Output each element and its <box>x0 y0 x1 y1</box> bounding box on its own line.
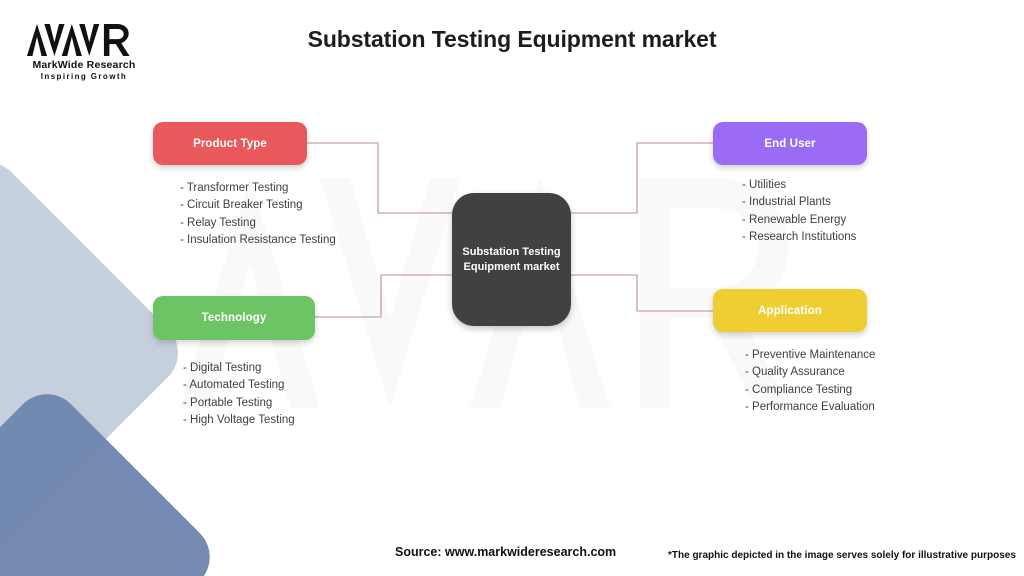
logo-company-name: MarkWide Research <box>20 59 148 71</box>
branch-technology-header[interactable]: Technology <box>153 296 315 340</box>
branch-product-type-header[interactable]: Product Type <box>153 122 307 165</box>
page-title: Substation Testing Equipment market <box>0 26 1024 53</box>
infographic-canvas: MarkWide Research Inspiring Growth Subst… <box>0 0 1024 576</box>
branch-application-header[interactable]: Application <box>713 289 867 332</box>
branch-product-type-title: Product Type <box>193 138 267 150</box>
branch-end-user: End User - Utilities - Industrial Plants… <box>713 122 867 247</box>
list-item: - Utilities <box>742 177 867 194</box>
list-item: - High Voltage Testing <box>183 412 315 429</box>
list-item: - Performance Evaluation <box>745 399 875 416</box>
branch-application-title: Application <box>758 305 822 317</box>
branch-end-user-title: End User <box>764 138 815 150</box>
branch-technology-title: Technology <box>202 312 267 324</box>
list-item: - Portable Testing <box>183 395 315 412</box>
branch-technology: Technology - Digital Testing - Automated… <box>153 296 315 430</box>
list-item: - Industrial Plants <box>742 194 867 211</box>
footer-source[interactable]: Source: www.markwideresearch.com <box>395 545 616 559</box>
branch-application-list: - Preventive Maintenance - Quality Assur… <box>713 347 875 417</box>
branch-end-user-list: - Utilities - Industrial Plants - Renewa… <box>713 177 867 247</box>
list-item: - Compliance Testing <box>745 382 875 399</box>
list-item: - Quality Assurance <box>745 364 875 381</box>
list-item: - Circuit Breaker Testing <box>180 197 336 214</box>
list-item: - Renewable Energy <box>742 212 867 229</box>
logo-tagline: Inspiring Growth <box>20 72 148 81</box>
branch-application: Application - Preventive Maintenance - Q… <box>713 289 875 417</box>
list-item: - Preventive Maintenance <box>745 347 875 364</box>
branch-product-type: Product Type - Transformer Testing - Cir… <box>153 122 336 250</box>
list-item: - Digital Testing <box>183 360 315 377</box>
branch-technology-list: - Digital Testing - Automated Testing - … <box>153 360 315 430</box>
center-node-label: Substation Testing Equipment market <box>452 245 571 274</box>
list-item: - Transformer Testing <box>180 180 336 197</box>
branch-end-user-header[interactable]: End User <box>713 122 867 165</box>
list-item: - Relay Testing <box>180 215 336 232</box>
list-item: - Insulation Resistance Testing <box>180 232 336 249</box>
list-item: - Automated Testing <box>183 377 315 394</box>
center-node: Substation Testing Equipment market <box>452 193 571 326</box>
footer-disclaimer: *The graphic depicted in the image serve… <box>668 550 1016 561</box>
list-item: - Research Institutions <box>742 229 867 246</box>
branch-product-type-list: - Transformer Testing - Circuit Breaker … <box>153 180 336 250</box>
